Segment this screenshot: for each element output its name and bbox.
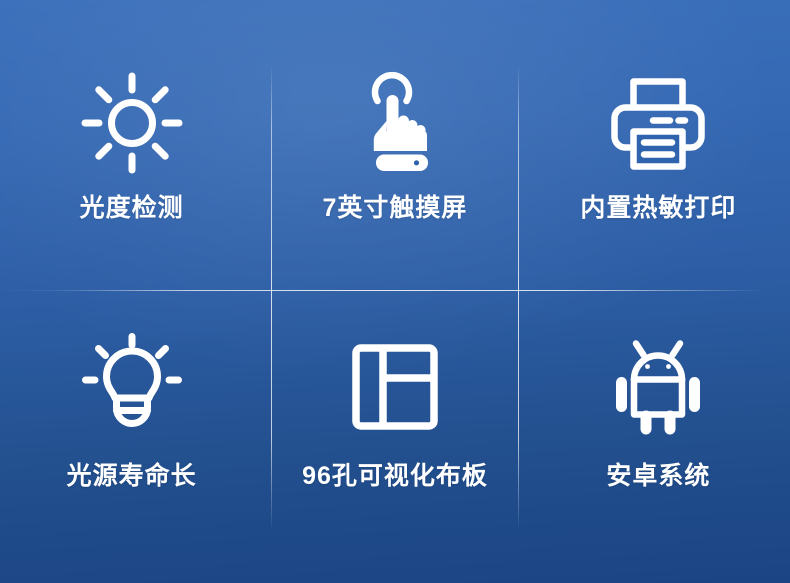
feature-highlights-panel: 光度检测 bbox=[0, 0, 790, 583]
feature-label: 光源寿命长 bbox=[67, 464, 197, 489]
feature-label: 安卓系统 bbox=[606, 464, 710, 489]
printer-icon bbox=[603, 68, 713, 178]
feature-label: 光度检测 bbox=[80, 196, 184, 221]
feature-cell-light-detection: 光度检测 bbox=[0, 0, 263, 292]
feature-label: 7英寸触摸屏 bbox=[323, 196, 468, 221]
feature-cell-lamp-lifetime: 光源寿命长 bbox=[0, 292, 263, 583]
sun-icon bbox=[77, 68, 187, 178]
feature-label: 96孔可视化布板 bbox=[302, 464, 488, 489]
feature-cell-thermal-printer: 内置热敏打印 bbox=[527, 0, 790, 292]
feature-cell-android-os: 安卓系统 bbox=[527, 292, 790, 583]
touch-hand-icon bbox=[340, 68, 450, 178]
feature-cell-96-well-layout: 96孔可视化布板 bbox=[263, 292, 526, 583]
layout-grid-icon bbox=[340, 332, 450, 442]
android-robot-icon bbox=[603, 332, 713, 442]
feature-label: 内置热敏打印 bbox=[580, 196, 736, 221]
lightbulb-icon bbox=[77, 332, 187, 442]
feature-grid: 光度检测 bbox=[0, 0, 790, 583]
feature-cell-touchscreen: 7英寸触摸屏 bbox=[263, 0, 526, 292]
